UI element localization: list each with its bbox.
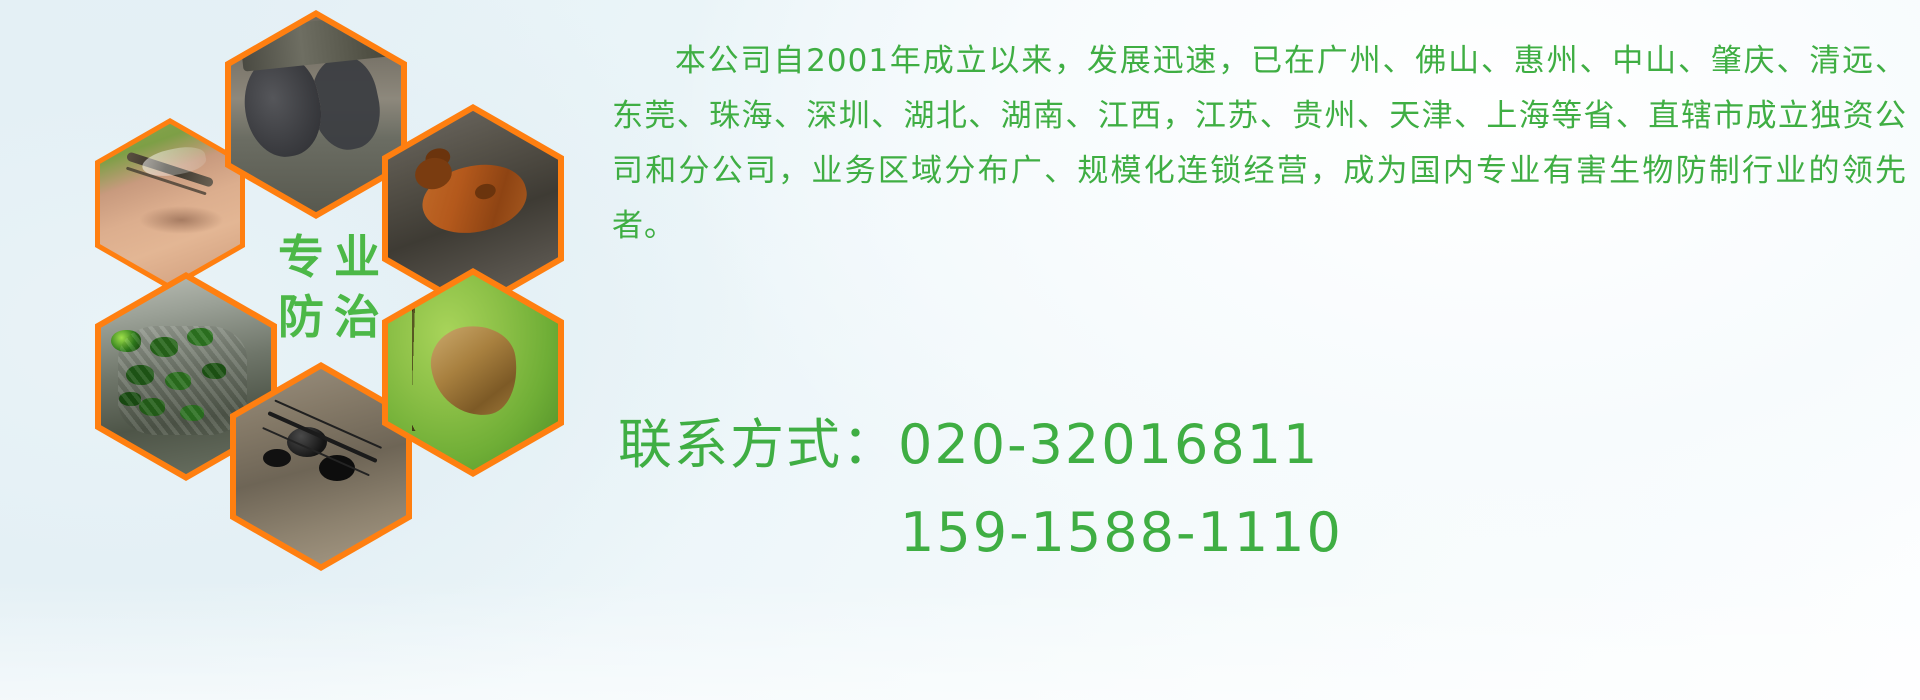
brand-slogan-line1: 专业 — [268, 234, 390, 280]
rats-photo — [225, 10, 407, 219]
honeycomb-photo-collage: 专业 防治 — [95, 10, 595, 570]
company-intro-paragraph: 本公司自2001年成立以来，发展迅速，已在广州、佛山、惠州、中山、肇庆、清远、东… — [612, 34, 1907, 254]
brand-slogan-line2: 防治 — [268, 294, 390, 340]
contact-block: 联系方式：020-32016811 159-1588-1110 — [618, 400, 1343, 564]
rats-photo-image — [231, 17, 401, 212]
contact-line-primary[interactable]: 联系方式：020-32016811 — [618, 400, 1343, 479]
pest-control-banner: 专业 防治 本公司自2001年成立以来，发展迅速，已在广州、佛山、惠州、中山、肇… — [0, 0, 1920, 700]
contact-line-secondary[interactable]: 159-1588-1110 — [618, 501, 1343, 564]
mosquito-photo-image — [100, 124, 240, 285]
company-intro-text: 本公司自2001年成立以来，发展迅速，已在广州、佛山、惠州、中山、肇庆、清远、东… — [612, 43, 1907, 244]
mosquito-photo — [95, 118, 245, 290]
company-intro: 本公司自2001年成立以来，发展迅速，已在广州、佛山、惠州、中山、肇庆、清远、东… — [612, 34, 1907, 254]
ant-photo-image — [236, 369, 406, 564]
